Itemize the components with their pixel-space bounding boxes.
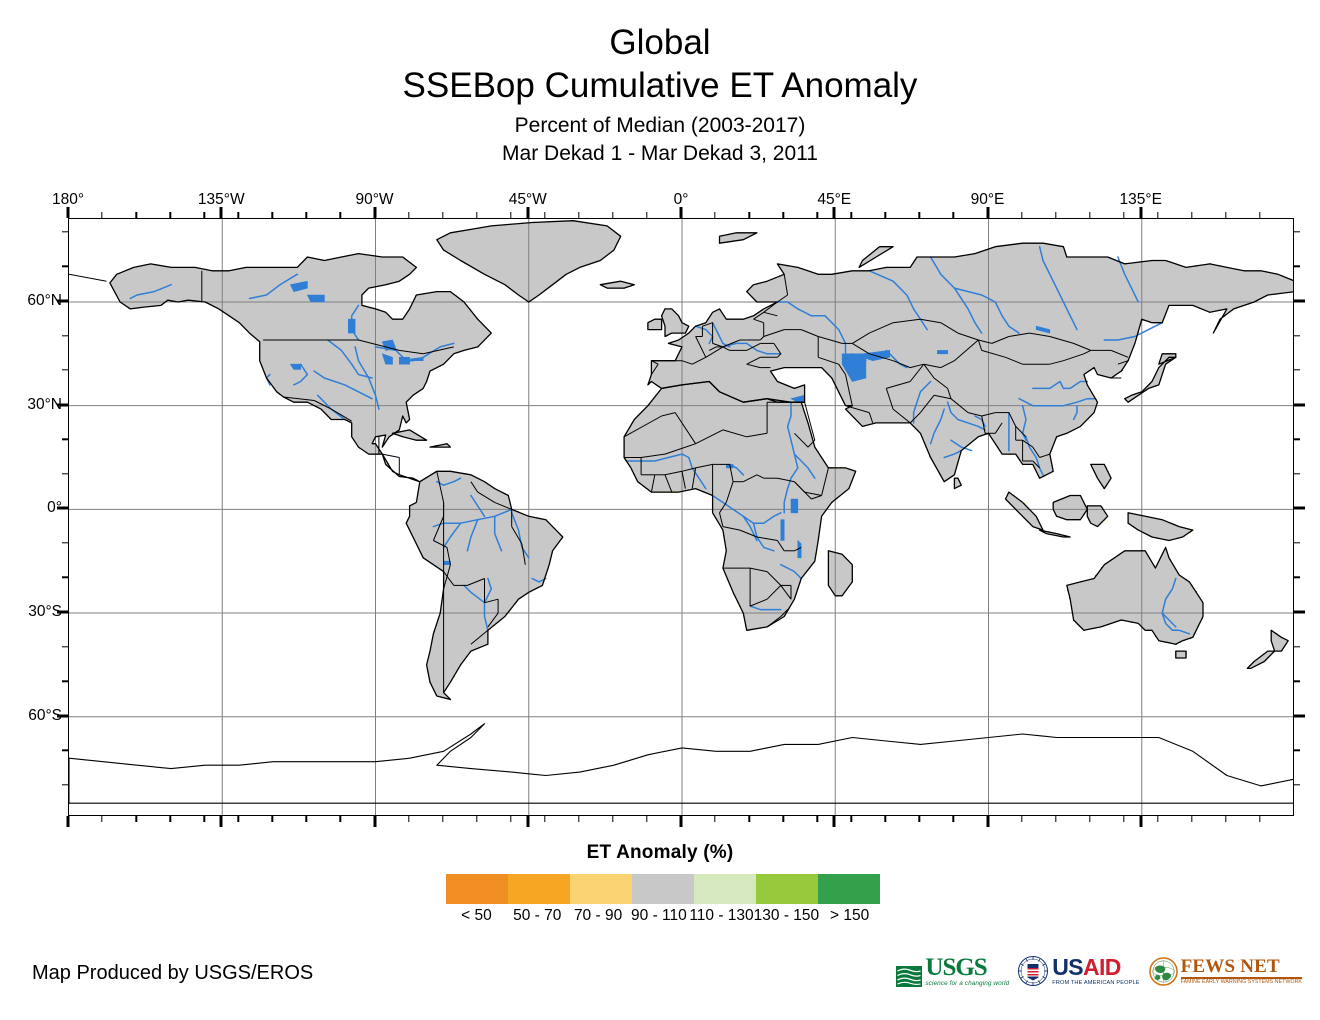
usaid-logo[interactable]: USAID FROM THE AMERICAN PEOPLE	[1018, 956, 1139, 987]
usaid-word-us: US	[1052, 954, 1083, 980]
legend-label-1: 50 - 70	[507, 907, 568, 925]
fews-net-logo[interactable]: FEWS NET FAMINE EARLY WARNING SYSTEMS NE…	[1149, 957, 1302, 986]
lon-tick-major-bottom-2	[373, 816, 376, 827]
lon-tick-minor-bottom--130	[238, 816, 239, 822]
lat-tick-minor-20	[62, 439, 68, 440]
page-subtitle: SSEBop Cumulative ET Anomaly	[0, 64, 1320, 108]
lon-tick-minor-100	[1021, 212, 1022, 218]
lat-tick-major-3	[57, 611, 68, 614]
lon-tick-minor-bottom-170	[1259, 816, 1260, 822]
lon-tick-minor-bottom--120	[272, 816, 273, 822]
period-label: Percent of Median (2003-2017)	[0, 112, 1320, 140]
lon-tick-minor-bottom--60	[476, 816, 477, 822]
lat-tick-major-right-2	[1294, 507, 1305, 510]
lon-tick-minor--120	[272, 212, 273, 218]
lon-tick-major-7	[1139, 207, 1142, 218]
lon-tick-major-bottom-1	[220, 816, 223, 827]
legend-swatch-5	[756, 874, 818, 904]
lon-tick-major-6	[986, 207, 989, 218]
lat-tick-minor-right--80	[1294, 784, 1300, 785]
lon-tick-minor--10	[646, 212, 647, 218]
legend-label-3: 90 - 110	[628, 907, 689, 925]
lon-tick-minor--50	[510, 212, 511, 218]
lat-tick-minor-right--20	[1294, 577, 1300, 578]
lon-tick-minor--130	[238, 212, 239, 218]
legend-swatch-3	[632, 874, 694, 904]
legend-swatch-6	[818, 874, 880, 904]
lon-tick-minor-30	[782, 212, 783, 218]
lat-tick-minor-right--70	[1294, 750, 1300, 751]
lat-tick-minor-right--50	[1294, 680, 1300, 681]
fews-tagline: FAMINE EARLY WARNING SYSTEMS NETWORK	[1181, 980, 1302, 985]
lon-tick-minor-bottom-110	[1055, 816, 1056, 822]
lat-tick-minor--50	[62, 680, 68, 681]
usgs-logo[interactable]: USGS science for a changing world	[896, 955, 1009, 987]
usaid-word-aid: AID	[1083, 954, 1121, 980]
lat-tick-major-4	[57, 714, 68, 717]
lat-tick-major-right-1	[1294, 403, 1305, 406]
lon-tick-minor-bottom-160	[1225, 816, 1226, 822]
lat-tick-minor--80	[62, 784, 68, 785]
map-vectors	[69, 219, 1294, 816]
lat-tick-minor-right-50	[1294, 335, 1300, 336]
fews-globe-icon	[1149, 957, 1178, 986]
lon-tick-major-bottom-6	[986, 816, 989, 827]
lon-tick-minor-160	[1225, 212, 1226, 218]
lon-tick-minor--30	[578, 212, 579, 218]
lon-tick-major-bottom-0	[67, 816, 70, 827]
title-block: Global SSEBop Cumulative ET Anomaly Perc…	[0, 22, 1320, 168]
lon-tick-minor-bottom-150	[1191, 816, 1192, 822]
lon-tick-minor--150	[169, 212, 170, 218]
lon-tick-minor-bottom--160	[135, 816, 136, 822]
lat-tick-minor-80	[62, 231, 68, 232]
lon-tick-major-bottom-7	[1139, 816, 1142, 827]
lon-tick-minor-bottom--30	[578, 816, 579, 822]
lon-tick-minor-50	[851, 212, 852, 218]
lon-tick-minor-bottom-10	[714, 816, 715, 822]
legend-swatch-4	[694, 874, 756, 904]
fews-wordmark: FEWS NET	[1181, 957, 1302, 976]
lon-tick-minor-20	[748, 212, 749, 218]
footer-logos: USGS science for a changing world U	[896, 955, 1302, 987]
lat-tick-major-right-4	[1294, 714, 1305, 717]
map-panel[interactable]	[68, 218, 1294, 816]
lon-tick-major-5	[833, 207, 836, 218]
lon-tick-minor-bottom-140	[1157, 816, 1158, 822]
lat-tick-minor-right--10	[1294, 542, 1300, 543]
lat-tick-minor-right-10	[1294, 473, 1300, 474]
usaid-seal-icon	[1018, 956, 1048, 986]
lat-tick-minor-right--40	[1294, 646, 1300, 647]
lon-tick-minor-bottom-70	[919, 816, 920, 822]
lon-tick-minor-bottom--70	[442, 816, 443, 822]
lon-tick-major-3	[526, 207, 529, 218]
lat-tick-major-right-3	[1294, 611, 1305, 614]
usgs-wave-icon	[896, 966, 922, 987]
lon-tick-major-1	[220, 207, 223, 218]
legend-label-5: 130 - 150	[754, 907, 820, 925]
lon-tick-minor-bottom--150	[169, 816, 170, 822]
lat-tick-minor--20	[62, 577, 68, 578]
lat-tick-minor-right-20	[1294, 439, 1300, 440]
usgs-wordmark: USGS	[925, 955, 1009, 980]
lon-tick-minor-bottom-20	[748, 816, 749, 822]
legend-title: ET Anomaly (%)	[0, 842, 1320, 864]
lon-tick-major-4	[680, 207, 683, 218]
date-range-label: Mar Dekad 1 - Mar Dekad 3, 2011	[0, 140, 1320, 168]
lat-tick-minor-right-40	[1294, 369, 1300, 370]
lon-tick-minor-bottom--140	[204, 816, 205, 822]
lon-tick-minor-70	[919, 212, 920, 218]
lon-tick-major-bottom-5	[833, 816, 836, 827]
lon-tick-minor--80	[408, 212, 409, 218]
lon-tick-minor-140	[1157, 212, 1158, 218]
lat-tick-major-2	[57, 507, 68, 510]
lon-tick-minor-bottom--20	[612, 816, 613, 822]
page-title: Global	[0, 22, 1320, 64]
lon-tick-minor--100	[340, 212, 341, 218]
legend-labels: < 5050 - 7070 - 9090 - 110110 - 130130 -…	[446, 907, 880, 925]
lon-tick-minor-120	[1089, 212, 1090, 218]
lon-tick-minor-10	[714, 212, 715, 218]
lat-tick-minor-right-80	[1294, 231, 1300, 232]
usaid-tagline: FROM THE AMERICAN PEOPLE	[1052, 981, 1139, 987]
lat-tick-major-right-0	[1294, 299, 1305, 302]
lon-tick-minor-80	[953, 212, 954, 218]
map-frame	[68, 218, 1294, 816]
legend: ET Anomaly (%) < 5050 - 7070 - 9090 - 11…	[0, 842, 1320, 864]
legend-bar-wrap: < 5050 - 7070 - 9090 - 110110 - 130130 -…	[446, 874, 880, 925]
lon-tick-major-bottom-3	[526, 816, 529, 827]
lon-tick-minor--40	[544, 212, 545, 218]
lon-tick-minor-bottom-130	[1123, 816, 1124, 822]
legend-swatch-2	[570, 874, 632, 904]
lon-tick-minor-bottom--110	[306, 816, 307, 822]
lon-tick-minor-170	[1259, 212, 1260, 218]
lon-tick-minor--60	[476, 212, 477, 218]
lon-tick-minor-150	[1191, 212, 1192, 218]
lon-tick-minor-bottom--50	[510, 816, 511, 822]
lon-tick-minor-bottom-120	[1089, 816, 1090, 822]
lon-tick-minor--20	[612, 212, 613, 218]
lon-tick-minor--140	[204, 212, 205, 218]
lon-tick-minor--170	[101, 212, 102, 218]
lon-tick-minor--110	[306, 212, 307, 218]
map-credit: Map Produced by USGS/EROS	[32, 962, 313, 985]
lat-tick-minor--10	[62, 542, 68, 543]
lon-tick-minor-130	[1123, 212, 1124, 218]
usgs-tagline: science for a changing world	[925, 981, 1009, 987]
legend-label-0: < 50	[446, 907, 507, 925]
legend-swatch-1	[508, 874, 570, 904]
lon-tick-minor--160	[135, 212, 136, 218]
lon-tick-minor-bottom-80	[953, 816, 954, 822]
legend-label-4: 110 - 130	[689, 907, 753, 925]
lon-tick-minor-60	[885, 212, 886, 218]
lon-tick-minor-bottom-40	[817, 816, 818, 822]
lon-tick-minor-bottom--40	[544, 816, 545, 822]
lon-tick-minor-bottom--170	[101, 816, 102, 822]
legend-swatch-0	[446, 874, 508, 904]
lon-tick-major-0	[67, 207, 70, 218]
lat-tick-minor-50	[62, 335, 68, 336]
legend-color-bar	[446, 874, 880, 904]
lon-tick-minor-bottom-30	[782, 816, 783, 822]
lat-tick-major-0	[57, 299, 68, 302]
lat-tick-minor-right-70	[1294, 266, 1300, 267]
lon-tick-minor-bottom-50	[851, 816, 852, 822]
lon-tick-minor-bottom-60	[885, 816, 886, 822]
lon-tick-minor-bottom--80	[408, 816, 409, 822]
lon-tick-major-2	[373, 207, 376, 218]
lon-tick-minor-40	[817, 212, 818, 218]
legend-label-6: > 150	[819, 907, 880, 925]
lon-tick-minor-bottom-100	[1021, 816, 1022, 822]
lat-tick-minor-70	[62, 266, 68, 267]
legend-label-2: 70 - 90	[568, 907, 629, 925]
lon-tick-minor-bottom--100	[340, 816, 341, 822]
usaid-wordmark: USAID	[1052, 956, 1139, 979]
lat-tick-minor-10	[62, 473, 68, 474]
lat-tick-minor-40	[62, 369, 68, 370]
lat-tick-minor--40	[62, 646, 68, 647]
lon-tick-minor-110	[1055, 212, 1056, 218]
lon-tick-minor-bottom--10	[646, 816, 647, 822]
lat-tick-major-1	[57, 403, 68, 406]
lon-tick-minor--70	[442, 212, 443, 218]
lon-tick-major-bottom-4	[680, 816, 683, 827]
lat-tick-minor--70	[62, 750, 68, 751]
